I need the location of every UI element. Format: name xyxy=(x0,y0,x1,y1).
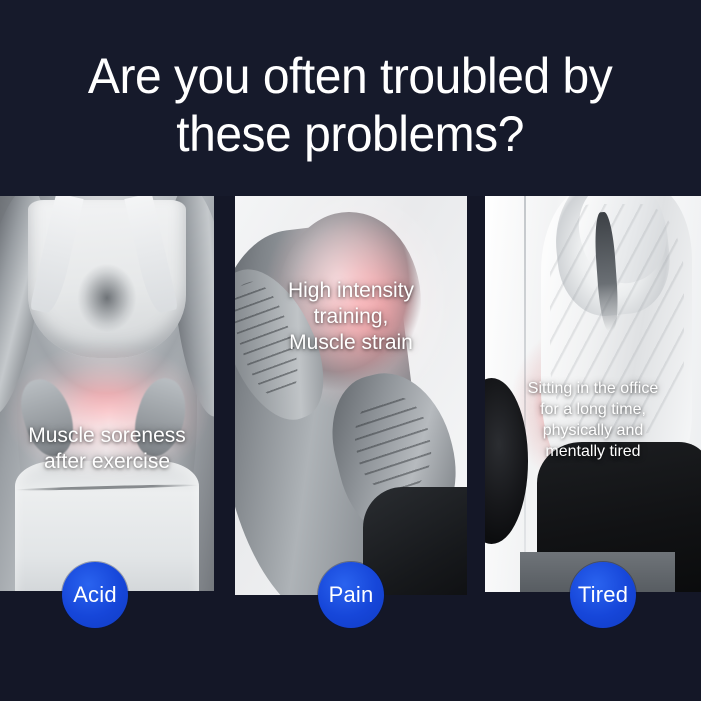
panel-caption-office-fatigue: Sitting in the office for a long time, p… xyxy=(485,378,701,462)
panel-badge-pain[interactable]: Pain xyxy=(318,562,384,628)
headline-line-1: Are you often troubled by xyxy=(88,47,612,105)
panel-photo-muscle-strain xyxy=(235,196,467,595)
panel-caption-muscle-soreness: Muscle soreness after exercise xyxy=(0,423,214,475)
panel-badge-tired[interactable]: Tired xyxy=(570,562,636,628)
problem-panels: Muscle soreness after exercise Acid High… xyxy=(0,196,701,701)
panel-photo-muscle-soreness xyxy=(0,196,214,591)
headline-line-2: these problems? xyxy=(177,105,525,163)
headline-banner: Are you often troubled by these problems… xyxy=(0,0,701,196)
panel-badge-acid[interactable]: Acid xyxy=(62,562,128,628)
panel-caption-muscle-strain: High intensity training, Muscle strain xyxy=(235,278,467,356)
